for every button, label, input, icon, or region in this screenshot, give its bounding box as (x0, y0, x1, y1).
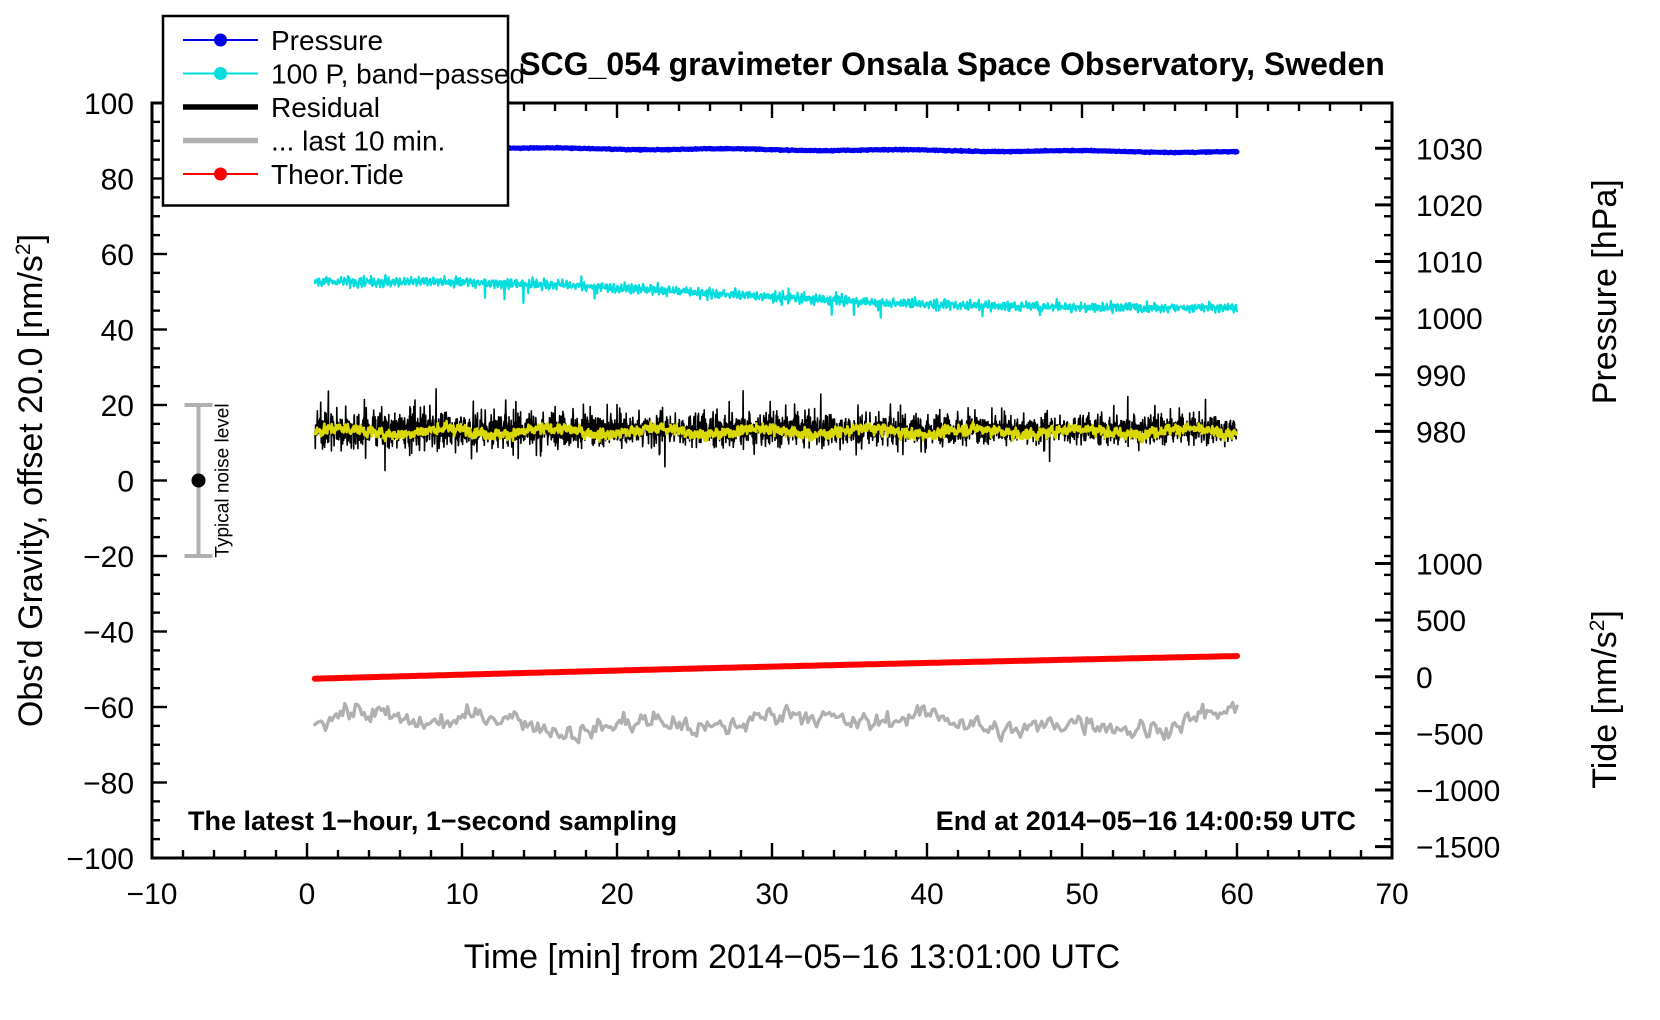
y-left-tick-label: 40 (101, 315, 134, 348)
y-left-tick-label: 100 (84, 88, 134, 121)
y-right-tide-tick-label: 500 (1416, 605, 1466, 638)
y-right-pressure-tick-label: 1020 (1416, 190, 1483, 223)
x-tick-label: 30 (755, 878, 788, 911)
legend-label-0: Pressure (271, 25, 383, 56)
y-left-axis-title: Obs'd Gravity, offset 20.0 [nm/s2] (12, 234, 50, 727)
x-axis-title: Time [min] from 2014−05−16 13:01:00 UTC (464, 938, 1120, 976)
y-right-tide-tick-label: 0 (1416, 662, 1433, 695)
y-right-tide-tick-label: 1000 (1416, 549, 1483, 582)
y-right-pressure-tick-label: 990 (1416, 360, 1466, 393)
y-left-tick-label: 0 (117, 466, 134, 499)
gravimeter-plot: −10010203040506070Time [min] from 2014−0… (0, 0, 1660, 1020)
x-tick-label: 50 (1065, 878, 1098, 911)
y-right-tide-tick-label: −1500 (1416, 832, 1500, 865)
legend-label-2: Residual (271, 92, 380, 123)
legend-marker-0 (214, 34, 227, 47)
legend-marker-4 (214, 168, 227, 181)
y-left-tick-label: −80 (83, 768, 134, 801)
y-left-tick-label: −40 (83, 617, 134, 650)
x-tick-label: 20 (600, 878, 633, 911)
x-tick-label: 10 (445, 878, 478, 911)
y-left-tick-label: 20 (101, 390, 134, 423)
legend-label-4: Theor.Tide (271, 159, 404, 190)
y-right-tide-tick-label: −1000 (1416, 775, 1500, 808)
y-right-pressure-tick-label: 980 (1416, 416, 1466, 449)
annotation-bottom-left: The latest 1−hour, 1−second sampling (188, 806, 677, 836)
y-right-pressure-tick-label: 1030 (1416, 133, 1483, 166)
x-tick-label: −10 (127, 878, 178, 911)
y-left-tick-label: −60 (83, 692, 134, 725)
y-left-tick-label: −20 (83, 541, 134, 574)
x-tick-label: 0 (299, 878, 316, 911)
y-right-pressure-tick-label: 1010 (1416, 247, 1483, 280)
noise-bar-center-dot (192, 474, 206, 488)
y-left-tick-label: 60 (101, 239, 134, 272)
x-tick-label: 70 (1375, 878, 1408, 911)
x-tick-label: 40 (910, 878, 943, 911)
noise-bar-label: Typical noise level (213, 403, 234, 557)
legend-label-1: 100 P, band−passed (271, 59, 525, 90)
y-right-tide-tick-label: −500 (1416, 718, 1484, 751)
x-tick-label: 60 (1220, 878, 1253, 911)
annotation-bottom-right: End at 2014−05−16 14:00:59 UTC (936, 806, 1356, 836)
legend-marker-1 (214, 67, 227, 80)
y-left-tick-label: 80 (101, 164, 134, 197)
page-title: SCG_054 gravimeter Onsala Space Observat… (519, 46, 1385, 82)
y-right-tide-title: Tide [nm/s2] (1586, 610, 1624, 789)
legend-label-3: ... last 10 min. (271, 126, 445, 157)
y-right-pressure-title: Pressure [hPa] (1586, 179, 1624, 404)
y-left-tick-label: −100 (66, 843, 134, 876)
y-right-pressure-tick-label: 1000 (1416, 303, 1483, 336)
